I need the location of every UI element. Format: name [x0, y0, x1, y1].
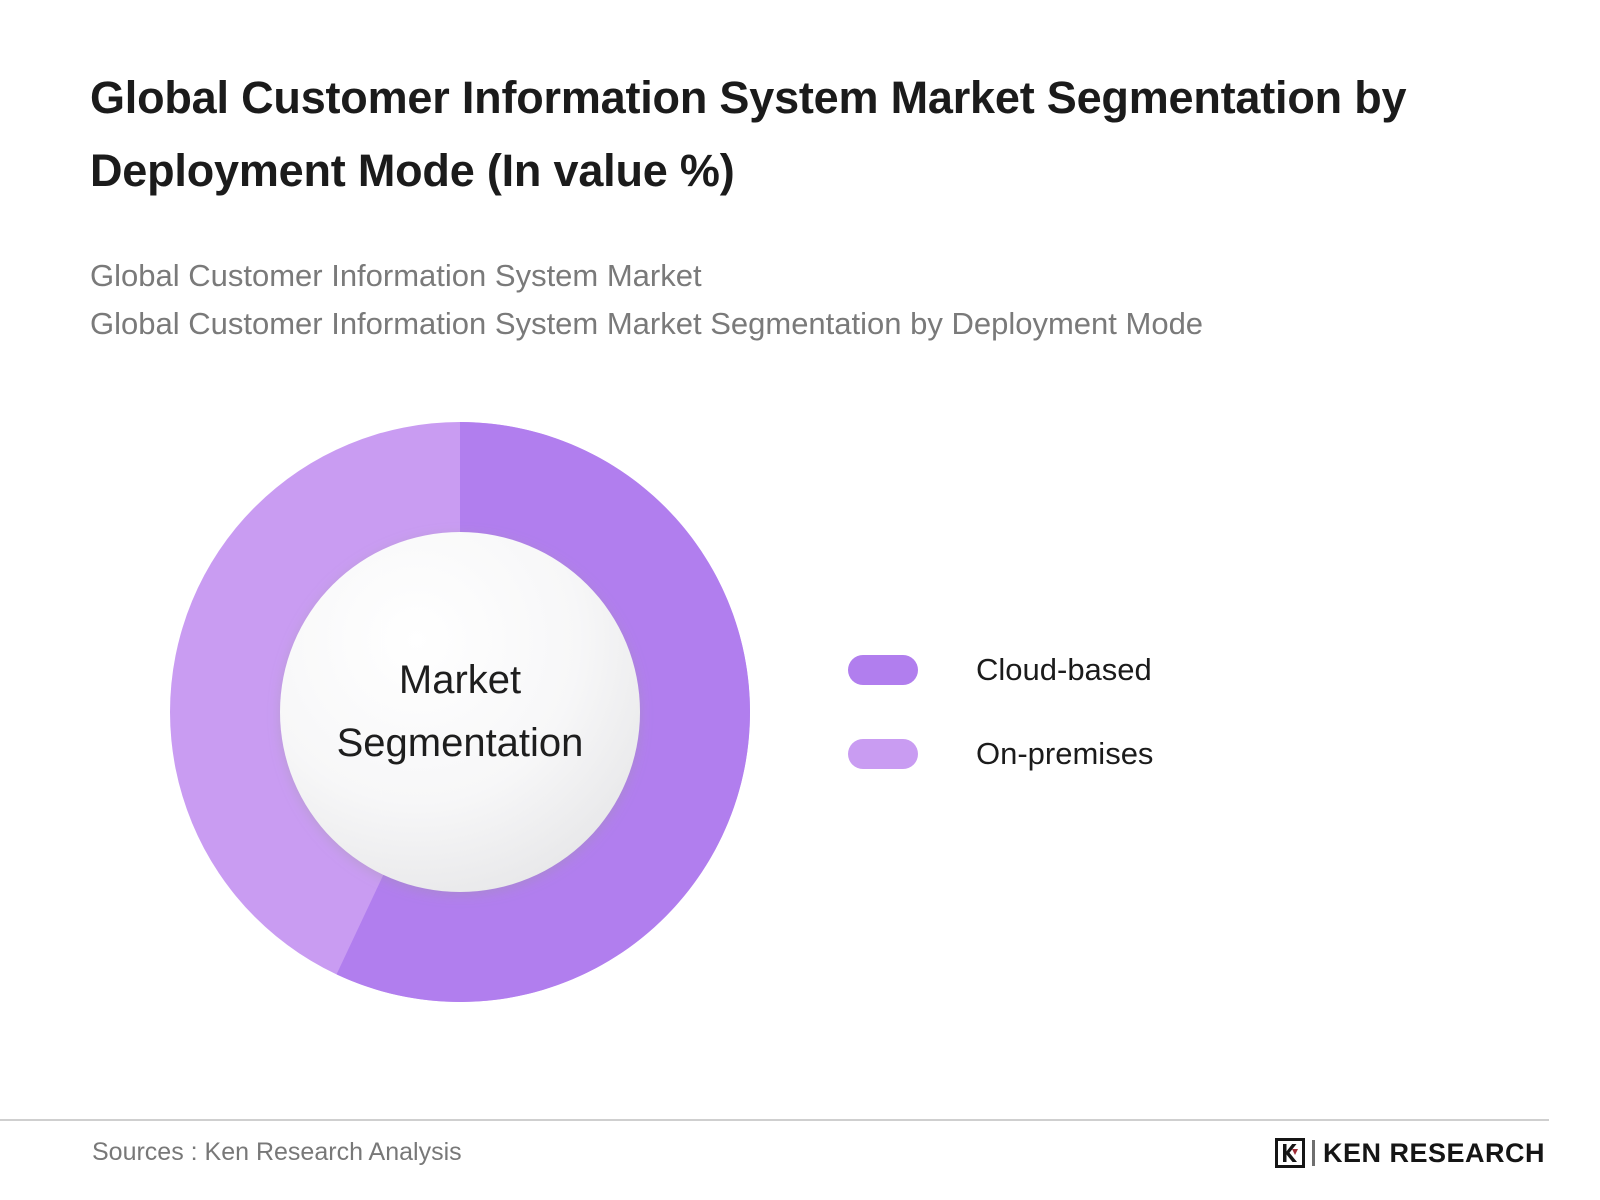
legend-label-cloud-based: Cloud-based: [976, 652, 1152, 688]
k-mark-svg: [1275, 1138, 1305, 1168]
subtitle-line-1: Global Customer Information System Marke…: [90, 252, 1510, 300]
chart-area: Market Segmentation Cloud-based On-premi…: [0, 400, 1600, 1040]
page-title: Global Customer Information System Marke…: [90, 62, 1420, 208]
ken-research-k-icon: [1275, 1138, 1305, 1168]
chart-page: Global Customer Information System Marke…: [0, 0, 1600, 1200]
brand-name: KEN RESEARCH: [1323, 1138, 1545, 1169]
donut-svg: [170, 422, 750, 1002]
legend-swatch-cloud-based: [848, 655, 918, 685]
brand-divider: [1312, 1140, 1315, 1166]
donut-hole: [280, 532, 640, 892]
footer-divider: [0, 1119, 1549, 1121]
source-note: Sources : Ken Research Analysis: [92, 1138, 462, 1167]
legend-label-on-premises: On-premises: [976, 736, 1153, 772]
chart-legend: Cloud-based On-premises: [848, 628, 1268, 796]
legend-item-cloud-based[interactable]: Cloud-based: [848, 628, 1268, 712]
brand-logo: KEN RESEARCH: [1275, 1136, 1545, 1170]
legend-swatch-on-premises: [848, 739, 918, 769]
donut-chart: Market Segmentation: [170, 422, 750, 1002]
legend-item-on-premises[interactable]: On-premises: [848, 712, 1268, 796]
subtitle-line-2: Global Customer Information System Marke…: [90, 300, 1510, 348]
chart-subtitle: Global Customer Information System Marke…: [90, 252, 1510, 348]
